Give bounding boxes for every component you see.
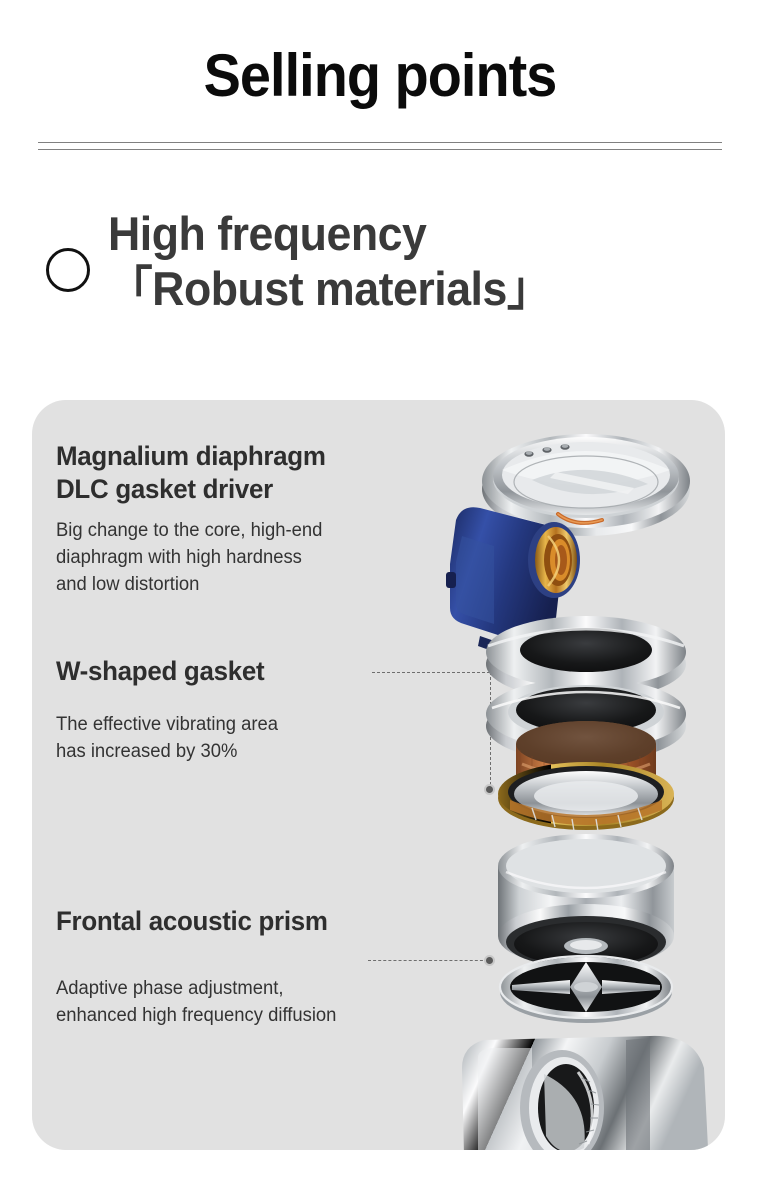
leader-segment-horizontal (368, 960, 488, 961)
magnet-cylinder (498, 834, 674, 968)
feature-block-magnalium-diaphragm: Magnalium diaphragm DLC gasket driver Bi… (56, 440, 486, 599)
feature-body-line2: has increased by 30% (56, 739, 473, 766)
feature-body-line1: Adaptive phase adjustment, (56, 976, 473, 1003)
feature-title-line1: Magnalium diaphragm (56, 441, 326, 471)
feature-body-line2: diaphragm with high hardness (56, 545, 473, 572)
section-heading-line1: High frequency (108, 208, 716, 261)
feature-body: The effective vibrating area has increas… (56, 712, 473, 766)
title-divider (38, 142, 722, 150)
feature-block-frontal-acoustic-prism: Frontal acoustic prism Adaptive phase ad… (56, 905, 486, 1030)
feature-title: Magnalium diaphragm DLC gasket driver (56, 440, 469, 506)
feature-title-line1: W-shaped gasket (56, 656, 264, 686)
feature-body-line2: enhanced high frequency diffusion (56, 1003, 473, 1030)
copper-voice-coil (516, 721, 656, 802)
feature-card-clip: Magnalium diaphragm DLC gasket driver Bi… (32, 400, 725, 1150)
feature-body-line1: The effective vibrating area (56, 712, 473, 739)
circle-outline-icon (46, 248, 90, 292)
divider-line-bottom (38, 149, 722, 150)
leader-dot (484, 955, 495, 966)
section-heading: High frequency 「Robust materials」 (108, 208, 716, 315)
section-heading-line2: 「Robust materials」 (108, 263, 716, 316)
feature-title: Frontal acoustic prism (56, 905, 469, 938)
magnalium-diaphragm-ring (486, 616, 686, 700)
leader-segment-horizontal (372, 672, 490, 673)
infographic-page: Selling points High frequency 「Robust ma… (0, 0, 760, 1193)
feature-body-line3: and low distortion (56, 572, 473, 599)
feature-body: Adaptive phase adjustment, enhanced high… (56, 976, 473, 1030)
chrome-earphone-housing (462, 1036, 708, 1150)
leader-dot (484, 784, 495, 795)
gold-coil-cylinder (528, 522, 580, 598)
frontal-acoustic-prism-spokes (500, 956, 672, 1023)
divider-line-top (38, 142, 722, 143)
chrome-top-cap-ring (482, 434, 690, 536)
leader-segment-vertical (490, 672, 491, 790)
page-title: Selling points (27, 46, 734, 106)
feature-body: Big change to the core, high-end diaphra… (56, 518, 473, 599)
feature-body-line1: Big change to the core, high-end (56, 518, 473, 545)
brass-suspension-ring (498, 762, 674, 831)
feature-title-line2: DLC gasket driver (56, 473, 469, 506)
feature-card: Magnalium diaphragm DLC gasket driver Bi… (32, 400, 725, 1150)
feature-title-line1: Frontal acoustic prism (56, 906, 328, 936)
w-shaped-gasket-ring (486, 678, 686, 762)
